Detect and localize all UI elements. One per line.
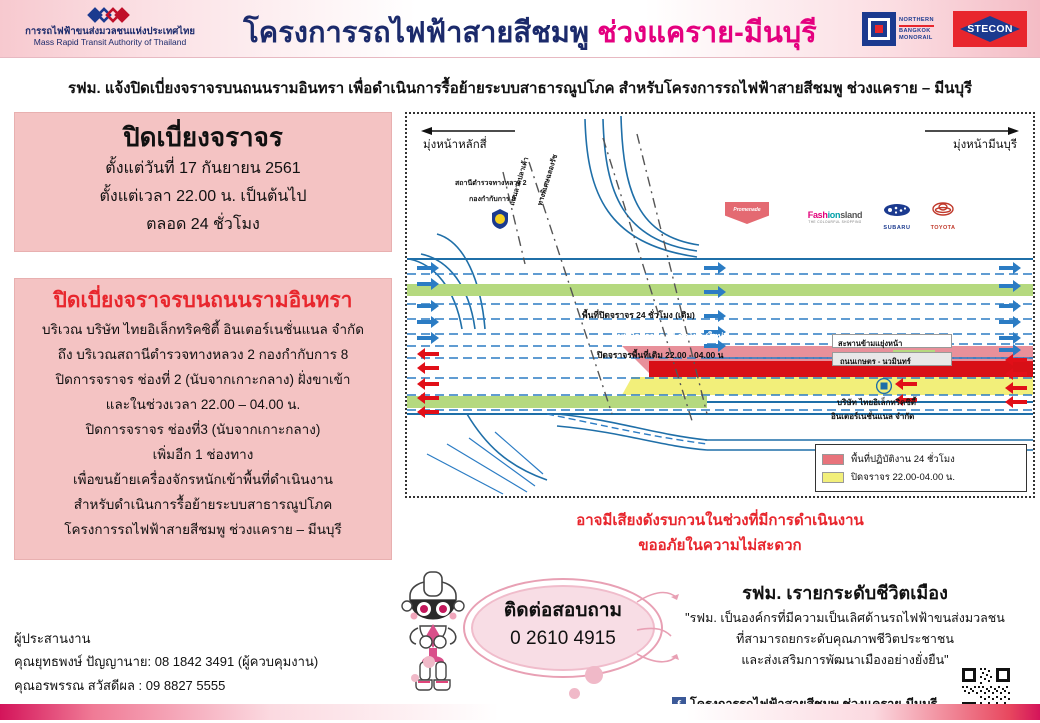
detail-line-2: ถึง บริเวณสถานีตำรวจทางหลวง 2 กองกำกับกา…: [15, 342, 391, 367]
coordinator-contacts: ผู้ประสานงาน คุณยุทธพงษ์ ปัญญานาย: 08 18…: [14, 628, 414, 698]
bridge-label-box: สะพานข้ามแยุ่งหน้า: [832, 334, 952, 348]
kaset-road-label: ถนนเกษตร - นวมินทร์: [840, 356, 911, 368]
page-header: การรถไฟฟ้าขนส่งมวลชนแห่งประเทศไทย Mass R…: [0, 0, 1040, 58]
northern-bangkok-monorail-logo: NORTHERN BANGKOK MONORAIL: [862, 11, 948, 47]
closure-duration: ตลอด 24 ชั่วโมง: [15, 211, 391, 239]
legend-swatch-work-area: [822, 454, 844, 465]
detail-line-8: สำหรับดำเนินการรื้อย้ายระบบสาธารณูปโภค: [15, 492, 391, 517]
detail-line-3: ปิดการจราจร ช่องที่ 2 (นับจากเกาะกลาง) ฝ…: [15, 367, 391, 392]
page-title-secondary: ช่วงแคราย-มีนบุรี: [597, 17, 817, 49]
contact-phone-bubble: ติดต่อสอบถาม 0 2610 4915: [463, 578, 663, 678]
zone-label-night: ปิดจราจรพื้นที่เดิม 22.00 - 04.00 น: [597, 348, 723, 362]
legend-row-work-area: พื้นที่ปฏิบัติงาน 24 ชั่วโมง: [822, 450, 1020, 468]
page-title: โครงการรถไฟฟ้าสายสีชมพู ช่วงแคราย-มีนบุร…: [215, 9, 845, 51]
detail-line-4: และในช่วงเวลา 22.00 – 04.00 น.: [15, 392, 391, 417]
closure-detail-panel: ปิดเบี่ยงจราจรบนถนนรามอินทรา บริเวณ บริษ…: [14, 278, 392, 560]
bridge-label: สะพานข้ามแยุ่งหน้า: [838, 338, 902, 350]
brand-logo-toyota: TOYOTA: [923, 202, 963, 234]
legend-label-work-area: พื้นที่ปฏิบัติงาน 24 ชั่วโมง: [851, 452, 955, 467]
traffic-diversion-map: มุ่งหน้าหลักสี่ มุ่งหน้ามีนบุรี สถานีตำร…: [405, 112, 1035, 498]
mrta-emblem-icon: [87, 5, 133, 25]
detail-line-5: ปิดการจราจร ช่องที่3 (นับจากเกาะกลาง): [15, 417, 391, 442]
legend-label-night-closure: ปิดจราจร 22.00-04.00 น.: [851, 470, 955, 485]
bubble-text: ติดต่อสอบถาม 0 2610 4915: [463, 598, 663, 654]
contact-person-1: คุณยุทธพงษ์ ปัญญานาย: 08 1842 3491 (ผู้ค…: [14, 650, 414, 674]
decor-dot-2: [569, 688, 580, 699]
company-label-line1: บริษัท ไทยอิเล็กทริคซิตี้: [837, 396, 916, 409]
slogan-line-1: "รฟม. เป็นองค์กรที่มีความเป็นเลิศด้านรถไ…: [660, 608, 1030, 629]
company-marker-icon: [876, 378, 892, 394]
decor-dot-1: [585, 666, 603, 684]
nbm-mark-icon: [862, 12, 896, 46]
detail-line-9: โครงการรถไฟฟ้าสายสีชมพู ช่วงแคราย – มีนบ…: [15, 517, 391, 542]
slogan-heading: รฟม. เรายกระดับชีวิตเมือง: [660, 578, 1030, 608]
contact-label: ติดต่อสอบถาม: [463, 598, 663, 624]
stecon-diamond-icon: STECON: [960, 16, 1020, 42]
direction-left-label: มุ่งหน้าหลักสี่: [423, 136, 487, 154]
stecon-wordmark: STECON: [967, 23, 1013, 35]
brand-logo-fashion-island: Fashionsland THE COLOURFUL SHOPPING: [799, 210, 871, 224]
direction-right-arrow-icon: [923, 123, 1019, 133]
fashion-island-part-b: ion: [828, 210, 841, 220]
closure-heading: ปิดเบี่ยงจราจร: [15, 119, 391, 155]
detail-line-6: เพิ่มอีก 1 ช่องทาง: [15, 442, 391, 467]
toyota-wordmark: TOYOTA: [931, 225, 956, 231]
detail-heading: ปิดเบี่ยงจราจรบนถนนรามอินทรา: [15, 285, 391, 317]
detail-line-7: เพื่อขนย้ายเครื่องจักรหนักเข้าพื้นที่ดำเ…: [15, 467, 391, 492]
closure-start-time: ตั้งแต่เวลา 22.00 น. เป็นต้นไป: [15, 183, 391, 211]
notice-line-1: อาจมีเสียงดังรบกวนในช่วงที่มีการดำเนินงา…: [430, 508, 1010, 533]
footer-gradient-bar: [0, 704, 1040, 720]
detail-line-1: บริเวณ บริษัท ไทยอิเล็กทริคซิตี้ อินเตอร…: [15, 317, 391, 342]
map-legend: พื้นที่ปฏิบัติงาน 24 ชั่วโมง ปิดจราจร 22…: [815, 444, 1027, 492]
direction-right-label: มุ่งหน้ามีนบุรี: [953, 136, 1017, 154]
notice-line-2: ขออภัยในความไม่สะดวก: [430, 533, 1010, 558]
decor-dot-3: [423, 656, 435, 668]
closure-summary-panel: ปิดเบี่ยงจราจร ตั้งแต่วันที่ 17 กันยายน …: [14, 112, 392, 252]
police-badge-icon: [491, 209, 509, 229]
closure-date: ตั้งแต่วันที่ 17 กันยายน 2561: [15, 155, 391, 183]
contacts-heading: ผู้ประสานงาน: [14, 628, 414, 650]
company-label-line2: อินเตอร์เนชั่นแนล จำกัด: [831, 410, 914, 423]
page-title-primary: โครงการรถไฟฟ้าสายสีชมพู: [243, 17, 597, 49]
direction-left-arrow-icon: [421, 123, 517, 133]
stecon-logo: STECON: [953, 11, 1027, 47]
nbm-divider: [899, 25, 934, 27]
nbm-line-2: BANGKOK: [899, 28, 931, 34]
map-graphics: [407, 114, 1033, 496]
fashion-island-tagline: THE COLOURFUL SHOPPING: [799, 220, 871, 224]
fashion-island-part-c: sland: [840, 210, 862, 220]
subaru-wordmark: SUBARU: [883, 225, 910, 231]
contact-person-2: คุณอรพรรณ สวัสดีผล : 09 8827 5555: [14, 674, 414, 698]
mrta-name-english: Mass Rapid Transit Authority of Thailand: [10, 37, 210, 47]
mrta-name-thai: การรถไฟฟ้าขนส่งมวลชนแห่งประเทศไทย: [10, 26, 210, 37]
fashion-island-part-a: Fash: [808, 210, 828, 220]
noise-notice: อาจมีเสียงดังรบกวนในช่วงที่มีการดำเนินงา…: [430, 508, 1010, 558]
mrta-logo: การรถไฟฟ้าขนส่งมวลชนแห่งประเทศไทย Mass R…: [10, 4, 210, 54]
contact-phone-number: 0 2610 4915: [463, 624, 663, 654]
kaset-road-label-box: ถนนเกษตร - นวมินทร์: [832, 352, 952, 366]
zone-label-old: พื้นที่ปิดจราจร 24 ชั่วโมง (เดิม): [582, 308, 695, 322]
nbm-wordmark: NORTHERN BANGKOK MONORAIL: [899, 17, 934, 42]
brand-logo-subaru: SUBARU: [877, 204, 917, 234]
announcement-subtitle: รฟม. แจ้งปิดเบี่ยงจราจรบนถนนรามอินทรา เพ…: [0, 76, 1040, 102]
nbm-line-1: NORTHERN: [899, 17, 934, 23]
mrta-slogan-block: รฟม. เรายกระดับชีวิตเมือง "รฟม. เป็นองค์…: [660, 578, 1030, 671]
legend-swatch-night-closure: [822, 472, 844, 483]
zone-label-new: พื้นที่ปิดจราจร 24 ชั่วโมง (ใหม่): [612, 329, 726, 343]
slogan-line-2: ที่สามารถยกระดับคุณภาพชีวิตประชาชน: [660, 629, 1030, 650]
nbm-line-3: MONORAIL: [899, 35, 933, 41]
legend-row-night-closure: ปิดจราจร 22.00-04.00 น.: [822, 468, 1020, 486]
